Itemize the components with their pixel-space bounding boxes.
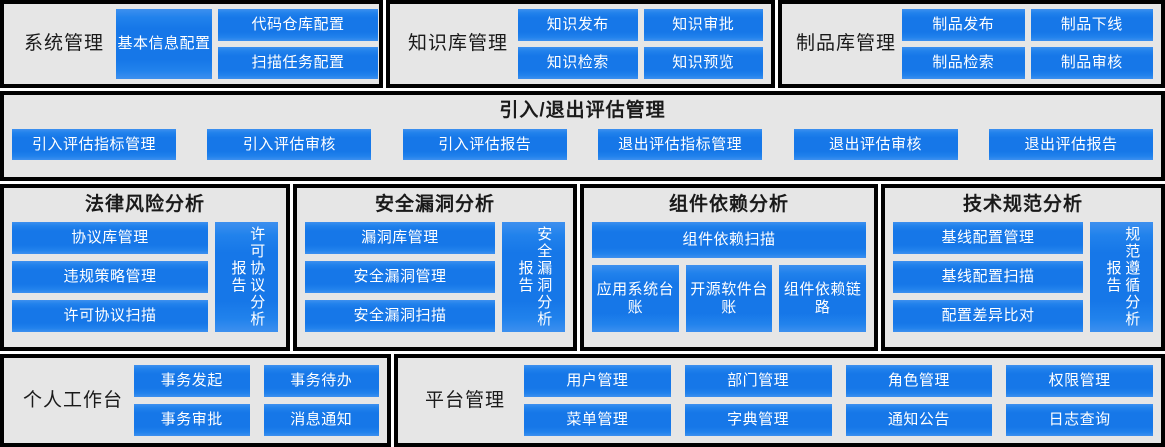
button-knowledge-publish[interactable]: 知识发布: [518, 9, 638, 41]
button-baseline-config-management[interactable]: 基线配置管理: [893, 222, 1083, 254]
button-exit-eval-report[interactable]: 退出评估报告: [989, 129, 1153, 160]
button-application-system-ledger[interactable]: 应用系统台账: [592, 265, 679, 332]
row-evaluation-management: 引入/退出评估管理 引入评估指标管理 引入评估审核 引入评估报告 退出评估指标管…: [0, 91, 1165, 181]
panel-title-component-dependency-analysis: 组件依赖分析: [584, 188, 874, 214]
button-knowledge-preview[interactable]: 知识预览: [644, 47, 764, 79]
button-exit-eval-index-management[interactable]: 退出评估指标管理: [598, 129, 762, 160]
panel-title-technical-specification-analysis: 技术规范分析: [885, 188, 1161, 214]
row-bottom-modules: 个人工作台 事务发起 事务待办 事务审批 消息通知 平台管理 用户管理 部门管理…: [0, 354, 1165, 447]
button-artifact-search[interactable]: 制品检索: [902, 47, 1025, 79]
button-department-management[interactable]: 部门管理: [685, 365, 832, 397]
panel-title-platform-management: 平台管理: [406, 390, 524, 412]
button-group-technical-specification: 基线配置管理 基线配置扫描 配置差异比对: [893, 222, 1083, 332]
panel-security-vulnerability-analysis: 安全漏洞分析 漏洞库管理 安全漏洞管理 安全漏洞扫描 安全漏洞分析报告: [293, 184, 577, 351]
button-artifact-offline[interactable]: 制品下线: [1031, 9, 1154, 41]
button-task-approval[interactable]: 事务审批: [134, 404, 250, 436]
panel-system-management: 系统管理 基本信息配置 代码仓库配置 扫描任务配置: [0, 0, 383, 88]
button-artifact-review[interactable]: 制品审核: [1031, 47, 1154, 79]
button-component-dependency-scan[interactable]: 组件依赖扫描: [592, 222, 866, 258]
panel-platform-management: 平台管理 用户管理 部门管理 角色管理 权限管理 菜单管理 字典管理 通知公告 …: [394, 354, 1165, 447]
button-artifact-publish[interactable]: 制品发布: [902, 9, 1025, 41]
button-group-platform-management: 用户管理 部门管理 角色管理 权限管理 菜单管理 字典管理 通知公告 日志查询: [524, 365, 1153, 436]
button-log-query[interactable]: 日志查询: [1006, 404, 1153, 436]
row-analysis-modules: 法律风险分析 协议库管理 违规策略管理 许可协议扫描 许可协议分析报告 安全漏洞…: [0, 184, 1165, 351]
button-task-todo[interactable]: 事务待办: [264, 365, 380, 397]
button-config-difference-comparison[interactable]: 配置差异比对: [893, 300, 1083, 332]
panel-title-knowledge-base-management: 知识库管理: [398, 33, 518, 55]
button-group-system-management: 基本信息配置 代码仓库配置 扫描任务配置: [116, 8, 378, 80]
panel-artifact-repository-management: 制品库管理 制品发布 制品检索 制品下线 制品审核: [778, 0, 1165, 88]
button-security-vulnerability-report[interactable]: 安全漏洞分析报告: [502, 222, 565, 332]
button-code-repo-config[interactable]: 代码仓库配置: [218, 9, 378, 41]
button-group-artifact-repository: 制品发布 制品检索 制品下线 制品审核: [902, 8, 1153, 80]
button-violation-policy-management[interactable]: 违规策略管理: [12, 261, 208, 293]
button-notice-announcement[interactable]: 通知公告: [846, 404, 993, 436]
button-permission-management[interactable]: 权限管理: [1006, 365, 1153, 397]
panel-intro-exit-evaluation-management: 引入/退出评估管理 引入评估指标管理 引入评估审核 引入评估报告 退出评估指标管…: [0, 91, 1165, 181]
panel-technical-specification-analysis: 技术规范分析 基线配置管理 基线配置扫描 配置差异比对 规范遵循分析报告: [881, 184, 1165, 351]
button-security-vulnerability-scan[interactable]: 安全漏洞扫描: [305, 300, 495, 332]
panel-title-artifact-repository-management: 制品库管理: [790, 33, 902, 55]
button-user-management[interactable]: 用户管理: [524, 365, 671, 397]
diagram-canvas: 系统管理 基本信息配置 代码仓库配置 扫描任务配置 知识库管理 知识发布 知识检…: [0, 0, 1165, 447]
button-task-initiate[interactable]: 事务发起: [134, 365, 250, 397]
panel-knowledge-base-management: 知识库管理 知识发布 知识检索 知识审批 知识预览: [386, 0, 775, 88]
button-dictionary-management[interactable]: 字典管理: [685, 404, 832, 436]
button-scan-task-config[interactable]: 扫描任务配置: [218, 47, 378, 79]
button-license-repo-management[interactable]: 协议库管理: [12, 222, 208, 254]
button-group-evaluation: 引入评估指标管理 引入评估审核 引入评估报告 退出评估指标管理 退出评估审核 退…: [4, 120, 1161, 160]
button-group-personal-workbench: 事务发起 事务待办 事务审批 消息通知: [134, 365, 379, 436]
panel-title-legal-risk-analysis: 法律风险分析: [4, 188, 286, 214]
button-specification-compliance-report[interactable]: 规范遵循分析报告: [1090, 222, 1153, 332]
button-role-management[interactable]: 角色管理: [846, 365, 993, 397]
button-security-vulnerability-management[interactable]: 安全漏洞管理: [305, 261, 495, 293]
button-group-knowledge-base: 知识发布 知识检索 知识审批 知识预览: [518, 8, 763, 80]
button-license-agreement-scan[interactable]: 许可协议扫描: [12, 300, 208, 332]
button-group-security-vulnerability: 漏洞库管理 安全漏洞管理 安全漏洞扫描: [305, 222, 495, 332]
button-basic-info-config[interactable]: 基本信息配置: [116, 9, 212, 79]
panel-personal-workbench: 个人工作台 事务发起 事务待办 事务审批 消息通知: [0, 354, 391, 447]
panel-title-security-vulnerability-analysis: 安全漏洞分析: [297, 188, 573, 214]
button-knowledge-approval[interactable]: 知识审批: [644, 9, 764, 41]
button-component-dependency-chain[interactable]: 组件依赖链路: [779, 265, 866, 332]
panel-legal-risk-analysis: 法律风险分析 协议库管理 违规策略管理 许可协议扫描 许可协议分析报告: [0, 184, 290, 351]
panel-component-dependency-analysis: 组件依赖分析 组件依赖扫描 应用系统台账 开源软件台账 组件依赖链路: [580, 184, 878, 351]
button-open-source-software-ledger[interactable]: 开源软件台账: [686, 265, 773, 332]
button-menu-management[interactable]: 菜单管理: [524, 404, 671, 436]
button-group-legal-risk: 协议库管理 违规策略管理 许可协议扫描: [12, 222, 208, 332]
button-intro-eval-review[interactable]: 引入评估审核: [207, 129, 371, 160]
button-vulnerability-repo-management[interactable]: 漏洞库管理: [305, 222, 495, 254]
button-license-analysis-report[interactable]: 许可协议分析报告: [215, 222, 278, 332]
panel-title-personal-workbench: 个人工作台: [12, 390, 134, 412]
button-message-notification[interactable]: 消息通知: [264, 404, 380, 436]
panel-title-system-management: 系统管理: [12, 33, 116, 55]
button-exit-eval-review[interactable]: 退出评估审核: [794, 129, 958, 160]
button-intro-eval-report[interactable]: 引入评估报告: [403, 129, 567, 160]
button-intro-eval-index-management[interactable]: 引入评估指标管理: [12, 129, 176, 160]
button-group-component-ledgers: 应用系统台账 开源软件台账 组件依赖链路: [592, 265, 866, 332]
row-top-modules: 系统管理 基本信息配置 代码仓库配置 扫描任务配置 知识库管理 知识发布 知识检…: [0, 0, 1165, 88]
button-baseline-config-scan[interactable]: 基线配置扫描: [893, 261, 1083, 293]
panel-title-intro-exit-evaluation: 引入/退出评估管理: [4, 95, 1161, 120]
button-knowledge-search[interactable]: 知识检索: [518, 47, 638, 79]
